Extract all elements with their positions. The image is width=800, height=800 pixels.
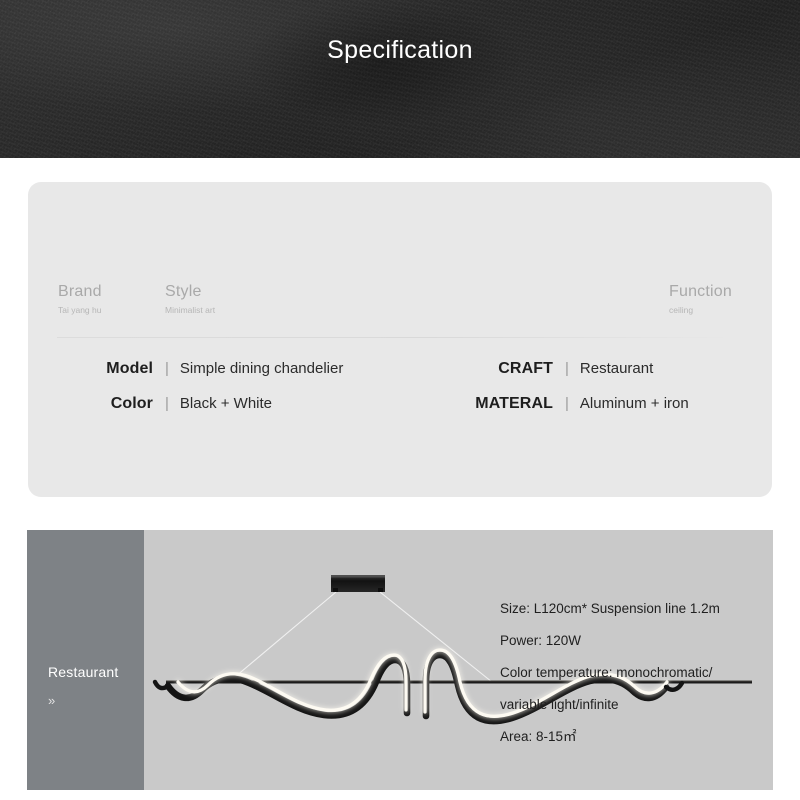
spec-column-style: Style Minimalist art [165,282,215,316]
ceiling-canopy [331,575,385,592]
spec-detail-model-value: Simple dining chandelier [180,360,343,377]
spec-detail-material: MATERAL | Aluminum + iron [423,395,689,413]
product-spec-color-temperature: Color temperature: monochromatic/ [500,657,773,689]
product-spec-color-temperature-cont: variable light/infinite [500,689,773,721]
spec-detail-craft-separator: | [553,360,580,377]
spec-detail-row: Model | Simple dining chandelier CRAFT |… [28,360,772,395]
spec-column-function-title: Function [669,282,732,302]
spec-summary-columns: Brand Tai yang hu Style Minimalist art F… [28,182,772,337]
spec-detail-color: Color | Black + White [28,395,428,413]
spec-detail-model-label: Model [28,360,153,378]
spec-column-function-value: ceiling [669,305,732,316]
spec-detail-color-value: Black + White [180,395,272,412]
spec-detail-model: Model | Simple dining chandelier [28,360,428,378]
spec-detail-material-separator: | [553,395,580,412]
spec-detail-craft-value: Restaurant [580,360,653,377]
spec-column-style-value: Minimalist art [165,305,215,316]
spec-detail-craft: CRAFT | Restaurant [423,360,653,378]
product-spec-size: Size: L120cm* Suspension line 1.2m [500,593,773,625]
spec-detail-craft-label: CRAFT [423,360,553,378]
spec-detail-material-value: Aluminum + iron [580,395,689,412]
page-title: Specification [0,36,800,65]
header-banner: Specification [0,0,800,158]
spec-column-brand: Brand Tai yang hu [58,282,102,316]
spec-detail-model-separator: | [153,360,180,377]
spec-divider [57,337,735,338]
spec-column-style-title: Style [165,282,215,302]
scene-tab-label: Restaurant [48,664,118,680]
product-spec-area: Area: 8-15㎡ [500,721,773,753]
scene-tab-restaurant[interactable]: Restaurant » [27,530,144,790]
product-panel: Restaurant » [27,530,773,790]
spec-detail-color-separator: | [153,395,180,412]
spec-detail-color-label: Color [28,395,153,413]
spec-column-function: Function ceiling [669,282,732,316]
product-spec-power: Power: 120W [500,625,773,657]
spec-detail-grid: Model | Simple dining chandelier CRAFT |… [28,360,772,430]
spec-detail-material-label: MATERAL [423,395,553,413]
product-spec-list: Size: L120cm* Suspension line 1.2m Power… [500,593,773,753]
chevron-double-right-icon: » [48,694,55,707]
spec-column-brand-title: Brand [58,282,102,302]
specification-card: Brand Tai yang hu Style Minimalist art F… [28,182,772,497]
spec-column-brand-value: Tai yang hu [58,305,102,316]
spec-detail-row: Color | Black + White MATERAL | Aluminum… [28,395,772,430]
